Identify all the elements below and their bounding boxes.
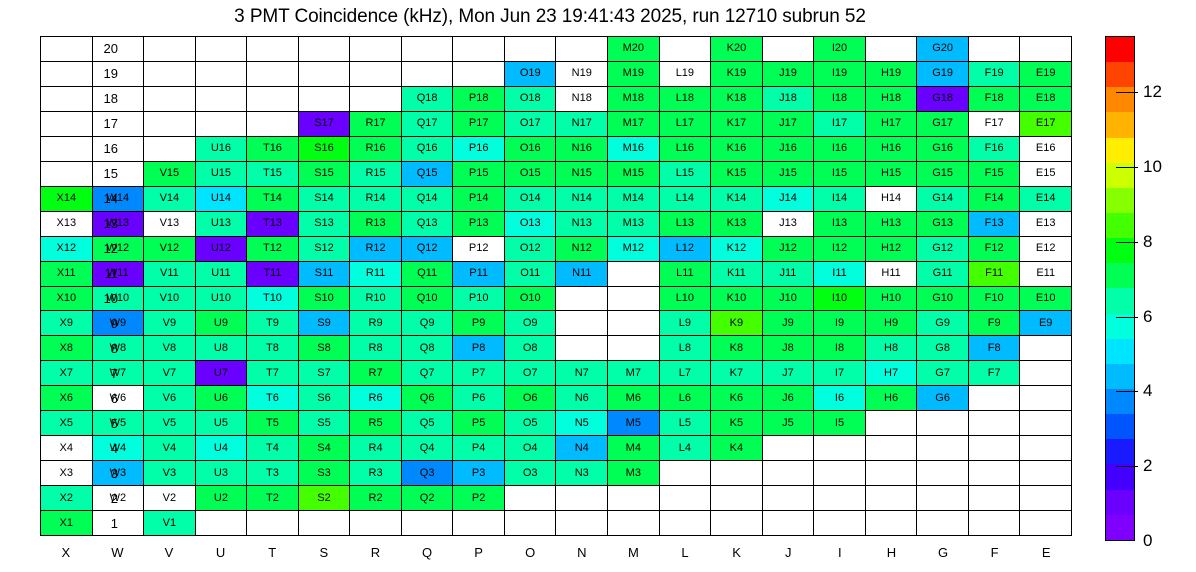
heatmap-grid: M20K20I20G20O19N19M19L19K19J19I19H19G19F…	[40, 36, 1072, 536]
y-axis-label: 12	[90, 241, 118, 256]
x-axis-label: K	[711, 545, 763, 560]
heatmap-cell: X11	[41, 262, 93, 287]
heatmap-cell	[556, 511, 608, 536]
heatmap-cell: E11	[1020, 262, 1072, 287]
heatmap-cell: K17	[711, 112, 763, 137]
heatmap-cell	[814, 436, 866, 461]
heatmap-cell: K16	[711, 137, 763, 162]
heatmap-cell: I12	[814, 237, 866, 262]
heatmap-cell: V8	[144, 336, 196, 361]
heatmap-cell: L14	[660, 187, 712, 212]
colorbar-band	[1106, 515, 1134, 540]
heatmap-cell: T5	[247, 411, 299, 436]
heatmap-cell	[866, 37, 918, 62]
heatmap-cell: X8	[41, 336, 93, 361]
heatmap-cell: X4	[41, 436, 93, 461]
heatmap-cell	[350, 37, 402, 62]
heatmap-cell: J6	[763, 386, 815, 411]
heatmap-cell: N13	[556, 212, 608, 237]
heatmap-cell: G17	[917, 112, 969, 137]
heatmap-cell	[196, 62, 248, 87]
heatmap-cell: G18	[917, 87, 969, 112]
heatmap-cell: I8	[814, 336, 866, 361]
heatmap-cell: J15	[763, 162, 815, 187]
heatmap-cell: R10	[350, 287, 402, 312]
heatmap-cell: I11	[814, 262, 866, 287]
heatmap-cell: T2	[247, 486, 299, 511]
heatmap-cell: V10	[144, 287, 196, 312]
heatmap-cell: U8	[196, 336, 248, 361]
heatmap-cell: U13	[196, 212, 248, 237]
heatmap-cell: K8	[711, 336, 763, 361]
heatmap-cell: U9	[196, 311, 248, 336]
heatmap-cell	[969, 411, 1021, 436]
heatmap-cell: G6	[917, 386, 969, 411]
heatmap-cell: L7	[660, 361, 712, 386]
heatmap-cell	[505, 37, 557, 62]
heatmap-cell	[917, 486, 969, 511]
heatmap-cell: M20	[608, 37, 660, 62]
heatmap-cell: R3	[350, 461, 402, 486]
heatmap-cell: L15	[660, 162, 712, 187]
heatmap-cell	[917, 411, 969, 436]
colorbar-tick	[1116, 466, 1138, 467]
heatmap-cell	[1020, 386, 1072, 411]
heatmap-cell: L10	[660, 287, 712, 312]
heatmap-cell: F8	[969, 336, 1021, 361]
heatmap-cell: K13	[711, 212, 763, 237]
heatmap-cell: O7	[505, 361, 557, 386]
heatmap-cell: H10	[866, 287, 918, 312]
colorbar-band	[1106, 213, 1134, 238]
heatmap-cell	[660, 37, 712, 62]
colorbar-tick-label: 12	[1143, 82, 1162, 102]
heatmap-cell: K20	[711, 37, 763, 62]
heatmap-plot: M20K20I20G20O19N19M19L19K19J19I19H19G19F…	[40, 36, 1072, 536]
heatmap-cell	[144, 137, 196, 162]
heatmap-cell: V13	[144, 212, 196, 237]
heatmap-cell: F7	[969, 361, 1021, 386]
heatmap-cell: V5	[144, 411, 196, 436]
heatmap-cell: Q12	[402, 237, 454, 262]
x-axis-label: Q	[401, 545, 453, 560]
heatmap-cell	[144, 87, 196, 112]
heatmap-cell: I13	[814, 212, 866, 237]
heatmap-cell	[608, 262, 660, 287]
heatmap-cell: P3	[453, 461, 505, 486]
heatmap-cell: E18	[1020, 87, 1072, 112]
heatmap-cell: U4	[196, 436, 248, 461]
heatmap-cell: L4	[660, 436, 712, 461]
heatmap-cell: H13	[866, 212, 918, 237]
y-axis-label: 7	[90, 366, 118, 381]
heatmap-cell	[196, 511, 248, 536]
heatmap-cell	[763, 511, 815, 536]
heatmap-cell	[917, 436, 969, 461]
heatmap-cell: M5	[608, 411, 660, 436]
heatmap-cell	[1020, 486, 1072, 511]
x-axis-label: E	[1020, 545, 1072, 560]
heatmap-cell	[814, 511, 866, 536]
heatmap-cell: N14	[556, 187, 608, 212]
heatmap-cell	[247, 112, 299, 137]
heatmap-cell	[41, 162, 93, 187]
heatmap-cell: J19	[763, 62, 815, 87]
heatmap-cell: F12	[969, 237, 1021, 262]
heatmap-cell: G12	[917, 237, 969, 262]
heatmap-cell: U3	[196, 461, 248, 486]
heatmap-cell: I16	[814, 137, 866, 162]
colorbar-band	[1106, 464, 1134, 489]
x-axis-label: J	[762, 545, 814, 560]
heatmap-cell: T16	[247, 137, 299, 162]
heatmap-cell: O12	[505, 237, 557, 262]
heatmap-cell	[969, 511, 1021, 536]
heatmap-page: 3 PMT Coincidence (kHz), Mon Jun 23 19:4…	[0, 0, 1196, 572]
heatmap-cell: R16	[350, 137, 402, 162]
heatmap-cell: S5	[299, 411, 351, 436]
heatmap-cell	[144, 62, 196, 87]
heatmap-cell	[350, 511, 402, 536]
heatmap-cell: J13	[763, 212, 815, 237]
heatmap-cell: T6	[247, 386, 299, 411]
heatmap-cell	[505, 511, 557, 536]
heatmap-cell: P8	[453, 336, 505, 361]
x-axis-label: F	[969, 545, 1021, 560]
heatmap-cell: F15	[969, 162, 1021, 187]
heatmap-cell: U10	[196, 287, 248, 312]
heatmap-cell: Q15	[402, 162, 454, 187]
heatmap-cell: R8	[350, 336, 402, 361]
heatmap-cell: K7	[711, 361, 763, 386]
heatmap-cell: P12	[453, 237, 505, 262]
heatmap-cell: P4	[453, 436, 505, 461]
heatmap-cell: H17	[866, 112, 918, 137]
heatmap-cell	[453, 37, 505, 62]
heatmap-cell: K5	[711, 411, 763, 436]
heatmap-cell: Q13	[402, 212, 454, 237]
heatmap-cell: E12	[1020, 237, 1072, 262]
heatmap-cell	[556, 37, 608, 62]
heatmap-cell: I15	[814, 162, 866, 187]
heatmap-cell: N6	[556, 386, 608, 411]
colorbar-band	[1106, 188, 1134, 213]
heatmap-cell: I6	[814, 386, 866, 411]
heatmap-cell	[196, 112, 248, 137]
heatmap-cell: G9	[917, 311, 969, 336]
heatmap-cell: U16	[196, 137, 248, 162]
heatmap-cell: M13	[608, 212, 660, 237]
heatmap-cell: O9	[505, 311, 557, 336]
heatmap-cell: U14	[196, 187, 248, 212]
heatmap-cell: Q6	[402, 386, 454, 411]
heatmap-cell: J9	[763, 311, 815, 336]
heatmap-cell: G10	[917, 287, 969, 312]
heatmap-cell: T4	[247, 436, 299, 461]
heatmap-cell	[608, 511, 660, 536]
heatmap-cell: X13	[41, 212, 93, 237]
heatmap-cell: V14	[144, 187, 196, 212]
heatmap-cell: P16	[453, 137, 505, 162]
colorbar-band	[1106, 364, 1134, 389]
heatmap-cell: S16	[299, 137, 351, 162]
heatmap-cell: Q3	[402, 461, 454, 486]
heatmap-cell: N16	[556, 137, 608, 162]
heatmap-cell	[402, 62, 454, 87]
heatmap-cell	[660, 511, 712, 536]
heatmap-cell: T15	[247, 162, 299, 187]
heatmap-cell	[917, 461, 969, 486]
colorbar-tick-label: 6	[1143, 307, 1152, 327]
colorbar-band	[1106, 37, 1134, 62]
heatmap-cell: L16	[660, 137, 712, 162]
heatmap-cell: I14	[814, 187, 866, 212]
heatmap-cell	[1020, 336, 1072, 361]
heatmap-cell: G8	[917, 336, 969, 361]
heatmap-cell	[711, 461, 763, 486]
x-axis-label: N	[556, 545, 608, 560]
heatmap-cell: M18	[608, 87, 660, 112]
heatmap-cell: V7	[144, 361, 196, 386]
heatmap-cell: K14	[711, 187, 763, 212]
heatmap-cell	[402, 37, 454, 62]
y-axis-label: 2	[90, 491, 118, 506]
heatmap-cell	[969, 461, 1021, 486]
heatmap-cell: I18	[814, 87, 866, 112]
heatmap-cell: H8	[866, 336, 918, 361]
colorbar-band	[1106, 439, 1134, 464]
heatmap-cell: N19	[556, 62, 608, 87]
heatmap-cell	[1020, 411, 1072, 436]
colorbar-band	[1106, 62, 1134, 87]
heatmap-cell: V3	[144, 461, 196, 486]
heatmap-cell: F19	[969, 62, 1021, 87]
heatmap-cell: E15	[1020, 162, 1072, 187]
heatmap-cell: T8	[247, 336, 299, 361]
heatmap-cell	[763, 37, 815, 62]
heatmap-cell: P6	[453, 386, 505, 411]
heatmap-cell	[144, 37, 196, 62]
heatmap-cell	[814, 486, 866, 511]
heatmap-cell	[763, 436, 815, 461]
heatmap-cell	[350, 62, 402, 87]
heatmap-cell: L13	[660, 212, 712, 237]
heatmap-cell: U6	[196, 386, 248, 411]
heatmap-cell	[41, 112, 93, 137]
heatmap-cell: S2	[299, 486, 351, 511]
heatmap-cell: R12	[350, 237, 402, 262]
colorbar-tick	[1116, 167, 1138, 168]
heatmap-cell	[556, 336, 608, 361]
heatmap-cell: Q17	[402, 112, 454, 137]
y-axis-label: 15	[90, 166, 118, 181]
heatmap-cell: J14	[763, 187, 815, 212]
heatmap-cell: I19	[814, 62, 866, 87]
x-axis-label: S	[298, 545, 350, 560]
heatmap-cell: Q2	[402, 486, 454, 511]
heatmap-cell: F13	[969, 212, 1021, 237]
heatmap-cell: V6	[144, 386, 196, 411]
heatmap-cell	[1020, 361, 1072, 386]
heatmap-cell: Q11	[402, 262, 454, 287]
heatmap-cell: M19	[608, 62, 660, 87]
heatmap-cell: M16	[608, 137, 660, 162]
heatmap-cell: S12	[299, 237, 351, 262]
colorbar-tick-label: 4	[1143, 381, 1152, 401]
heatmap-cell: V9	[144, 311, 196, 336]
heatmap-cell	[866, 511, 918, 536]
heatmap-cell: G13	[917, 212, 969, 237]
heatmap-cell	[453, 62, 505, 87]
heatmap-cell: N7	[556, 361, 608, 386]
heatmap-cell: U5	[196, 411, 248, 436]
heatmap-cell: J11	[763, 262, 815, 287]
heatmap-cell	[763, 486, 815, 511]
heatmap-cell: N4	[556, 436, 608, 461]
heatmap-cell: O5	[505, 411, 557, 436]
heatmap-cell: O17	[505, 112, 557, 137]
heatmap-cell: V15	[144, 162, 196, 187]
heatmap-cell: R5	[350, 411, 402, 436]
y-axis-label: 17	[90, 116, 118, 131]
heatmap-cell: G16	[917, 137, 969, 162]
heatmap-cell: M17	[608, 112, 660, 137]
colorbar-band	[1106, 288, 1134, 313]
heatmap-cell: Q4	[402, 436, 454, 461]
heatmap-cell: L9	[660, 311, 712, 336]
heatmap-cell: O3	[505, 461, 557, 486]
heatmap-cell	[505, 486, 557, 511]
heatmap-cell: G15	[917, 162, 969, 187]
heatmap-cell: J17	[763, 112, 815, 137]
colorbar-tick	[1116, 391, 1138, 392]
heatmap-cell: O4	[505, 436, 557, 461]
heatmap-cell: L5	[660, 411, 712, 436]
heatmap-cell: I7	[814, 361, 866, 386]
heatmap-cell	[969, 436, 1021, 461]
heatmap-cell: O11	[505, 262, 557, 287]
heatmap-cell: G20	[917, 37, 969, 62]
heatmap-cell	[299, 511, 351, 536]
heatmap-cell	[299, 37, 351, 62]
heatmap-cell: O14	[505, 187, 557, 212]
x-axis-label: P	[453, 545, 505, 560]
heatmap-cell: R13	[350, 212, 402, 237]
heatmap-cell: R7	[350, 361, 402, 386]
heatmap-cell	[763, 461, 815, 486]
heatmap-cell: I10	[814, 287, 866, 312]
heatmap-cell: F17	[969, 112, 1021, 137]
colorbar-band	[1106, 339, 1134, 364]
heatmap-cell	[41, 87, 93, 112]
heatmap-cell: F18	[969, 87, 1021, 112]
page-title: 3 PMT Coincidence (kHz), Mon Jun 23 19:4…	[0, 6, 1100, 28]
heatmap-cell	[660, 461, 712, 486]
heatmap-cell: M12	[608, 237, 660, 262]
heatmap-cell	[402, 511, 454, 536]
heatmap-cell: N15	[556, 162, 608, 187]
heatmap-cell	[350, 87, 402, 112]
heatmap-cell: K18	[711, 87, 763, 112]
heatmap-cell: T10	[247, 287, 299, 312]
heatmap-cell: G14	[917, 187, 969, 212]
y-axis-label: 10	[90, 291, 118, 306]
heatmap-cell: N11	[556, 262, 608, 287]
heatmap-cell: K10	[711, 287, 763, 312]
heatmap-cell: K9	[711, 311, 763, 336]
heatmap-cell	[969, 486, 1021, 511]
y-axis-label: 5	[90, 416, 118, 431]
heatmap-cell: L6	[660, 386, 712, 411]
heatmap-cell: O13	[505, 212, 557, 237]
x-axis-label: I	[814, 545, 866, 560]
heatmap-cell: I5	[814, 411, 866, 436]
colorbar-tick	[1116, 242, 1138, 243]
heatmap-cell: L19	[660, 62, 712, 87]
heatmap-cell	[608, 486, 660, 511]
heatmap-cell: X10	[41, 287, 93, 312]
y-axis-label: 11	[90, 266, 118, 281]
heatmap-cell: V2	[144, 486, 196, 511]
x-axis-label: O	[504, 545, 556, 560]
x-axis-label: R	[349, 545, 401, 560]
heatmap-cell: X3	[41, 461, 93, 486]
heatmap-cell: I9	[814, 311, 866, 336]
heatmap-cell: V12	[144, 237, 196, 262]
heatmap-cell: I20	[814, 37, 866, 62]
heatmap-cell: F9	[969, 311, 1021, 336]
heatmap-cell: E16	[1020, 137, 1072, 162]
heatmap-cell: M15	[608, 162, 660, 187]
x-axis-label: H	[865, 545, 917, 560]
heatmap-cell: V11	[144, 262, 196, 287]
heatmap-cell	[556, 311, 608, 336]
y-axis-label: 19	[90, 66, 118, 81]
colorbar-tick	[1116, 92, 1138, 93]
heatmap-cell: L17	[660, 112, 712, 137]
heatmap-cell	[144, 112, 196, 137]
heatmap-cell: E9	[1020, 311, 1072, 336]
heatmap-cell: O10	[505, 287, 557, 312]
heatmap-cell: N3	[556, 461, 608, 486]
heatmap-cell: K12	[711, 237, 763, 262]
heatmap-cell: O15	[505, 162, 557, 187]
heatmap-cell: N5	[556, 411, 608, 436]
heatmap-cell: R4	[350, 436, 402, 461]
heatmap-cell: M6	[608, 386, 660, 411]
y-axis-label: 1	[90, 516, 118, 531]
colorbar-tick-label: 10	[1143, 157, 1162, 177]
heatmap-cell: R17	[350, 112, 402, 137]
heatmap-cell	[711, 511, 763, 536]
heatmap-cell: Q18	[402, 87, 454, 112]
heatmap-cell: P18	[453, 87, 505, 112]
heatmap-cell: R9	[350, 311, 402, 336]
y-axis-label: 13	[90, 216, 118, 231]
heatmap-cell: E19	[1020, 62, 1072, 87]
heatmap-cell: T9	[247, 311, 299, 336]
y-axis-label: 16	[90, 141, 118, 156]
heatmap-cell	[41, 62, 93, 87]
heatmap-cell: S8	[299, 336, 351, 361]
heatmap-cell: F11	[969, 262, 1021, 287]
heatmap-cell: X7	[41, 361, 93, 386]
heatmap-cell: E17	[1020, 112, 1072, 137]
colorbar-tick-label: 2	[1143, 456, 1152, 476]
heatmap-cell: R2	[350, 486, 402, 511]
heatmap-cell: R14	[350, 187, 402, 212]
heatmap-cell: Q14	[402, 187, 454, 212]
